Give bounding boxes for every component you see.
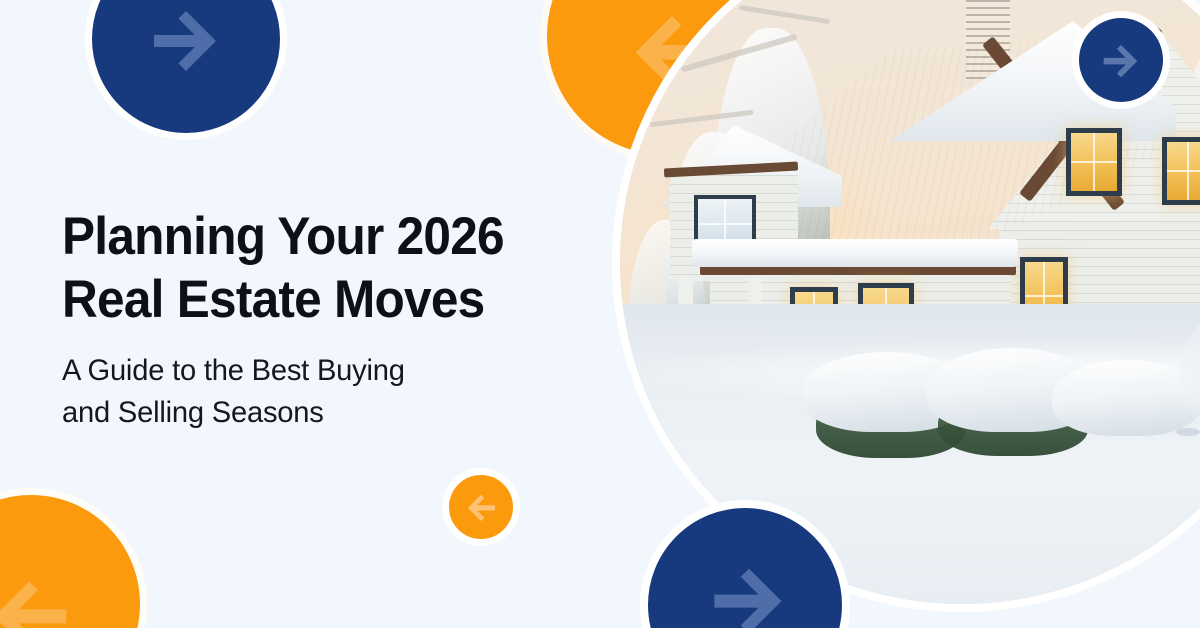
arrow-left-icon bbox=[460, 486, 502, 528]
arrow-right-icon bbox=[697, 547, 801, 628]
banner-canvas: Planning Your 2026 Real Estate Moves A G… bbox=[0, 0, 1200, 628]
text-block: Planning Your 2026 Real Estate Moves A G… bbox=[62, 205, 602, 434]
porch-roof-snow bbox=[692, 239, 1018, 267]
arrow-right-icon bbox=[1095, 34, 1147, 86]
snow-shrub-right bbox=[1052, 360, 1200, 436]
arrow-left-icon bbox=[0, 558, 85, 628]
decor-circle-orange-bottom-left bbox=[0, 488, 147, 628]
decor-circle-navy-top-left bbox=[85, 0, 287, 140]
upper-window-left bbox=[1066, 128, 1122, 196]
page-title: Planning Your 2026 Real Estate Moves bbox=[62, 205, 567, 331]
decor-circle-orange-small bbox=[442, 468, 520, 546]
arrow-right-icon bbox=[138, 0, 234, 87]
decor-circle-navy-top-right bbox=[1072, 11, 1170, 109]
snow-footprint bbox=[1176, 428, 1200, 436]
upper-window-right bbox=[1162, 137, 1200, 205]
page-subtitle: A Guide to the Best Buying and Selling S… bbox=[62, 350, 586, 434]
